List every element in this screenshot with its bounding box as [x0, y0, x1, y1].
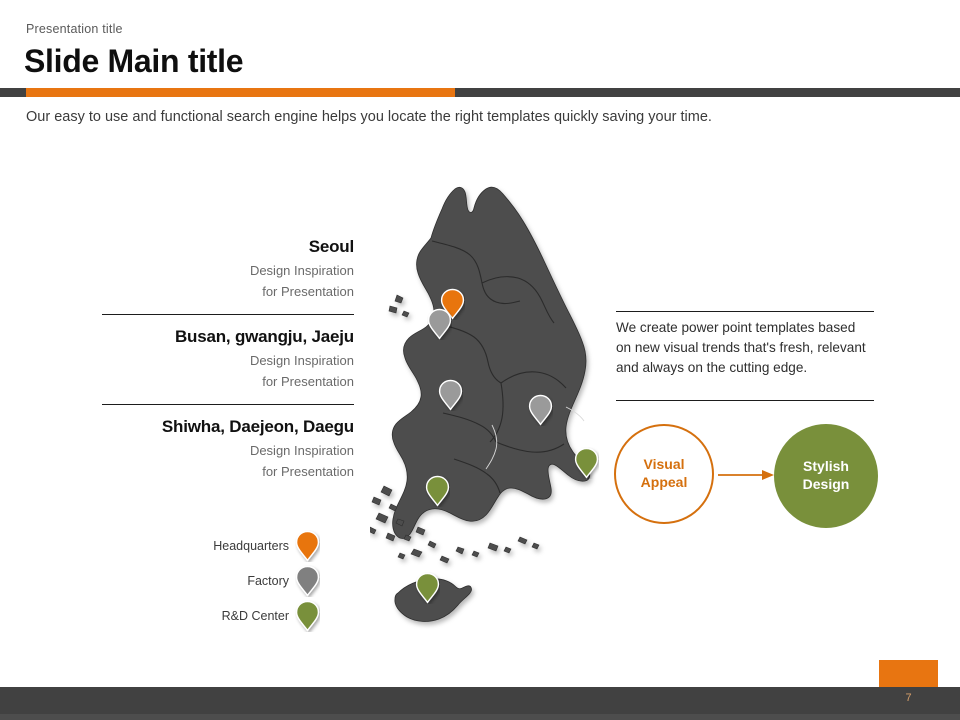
visual-appeal-circle[interactable]: Visual Appeal [614, 424, 714, 524]
visual-appeal-line2: Appeal [641, 474, 688, 490]
city-entry-seoul: Seoul Design Inspiration for Presentatio… [100, 236, 354, 302]
lead-paragraph: Our easy to use and functional search en… [26, 107, 796, 129]
presentation-eyebrow: Presentation title [26, 22, 123, 36]
arrow-right-icon [718, 468, 774, 480]
map-pin-icon [295, 565, 320, 597]
note-block: We create power point templates based on… [616, 318, 874, 378]
legend-label: Factory [247, 574, 295, 588]
city-desc-line1: Design Inspiration [100, 259, 354, 280]
mainland-path [392, 187, 589, 538]
city-separator [102, 404, 354, 405]
city-separator [102, 314, 354, 315]
stylish-design-line2: Design [803, 476, 850, 492]
city-desc-line2: for Presentation [100, 280, 354, 301]
stylish-design-circle[interactable]: Stylish Design [774, 424, 878, 528]
map-pin-icon [295, 530, 320, 562]
note-text: We create power point templates based on… [616, 318, 874, 378]
slide-canvas: Presentation title Slide Main title Our … [0, 0, 960, 720]
city-entry-busan: Busan, gwangju, Jaeju Design Inspiration… [100, 326, 354, 392]
rd-marker-southeast[interactable] [574, 447, 599, 479]
rd-marker-southwest[interactable] [425, 475, 450, 507]
header-rule-accent [26, 88, 455, 97]
factory-marker-west[interactable] [438, 379, 463, 411]
note-rule-bottom [616, 400, 874, 401]
city-name: Busan, gwangju, Jaeju [100, 326, 354, 349]
legend-item-factory: Factory [180, 563, 320, 598]
stylish-design-label: Stylish Design [803, 458, 850, 494]
factory-marker-east[interactable] [528, 394, 553, 426]
city-desc-line1: Design Inspiration [100, 349, 354, 370]
city-desc-line2: for Presentation [100, 460, 354, 481]
note-rule-top [616, 311, 874, 312]
visual-appeal-line1: Visual [644, 456, 685, 472]
city-list: Seoul Design Inspiration for Presentatio… [100, 236, 354, 482]
page-number: 7 [879, 692, 938, 704]
legend-label: Headquarters [213, 539, 295, 553]
rd-marker-jeju[interactable] [415, 572, 440, 604]
city-name: Seoul [100, 236, 354, 259]
city-entry-shiwha: Shiwha, Daejeon, Daegu Design Inspiratio… [100, 416, 354, 482]
visual-appeal-label: Visual Appeal [641, 456, 688, 492]
factory-marker-north[interactable] [427, 308, 452, 340]
map-landmass [370, 187, 590, 621]
legend-item-rd-center: R&D Center [180, 598, 320, 633]
legend-item-headquarters: Headquarters [180, 528, 320, 563]
map-svg [370, 175, 620, 635]
map-pin-icon [295, 600, 320, 632]
footer-strip [0, 714, 960, 720]
city-desc-line2: for Presentation [100, 370, 354, 391]
city-name: Shiwha, Daejeon, Daegu [100, 416, 354, 439]
map-legend: Headquarters Factory [180, 528, 320, 633]
city-desc-line1: Design Inspiration [100, 439, 354, 460]
stylish-design-line1: Stylish [803, 458, 849, 474]
south-korea-map[interactable] [370, 175, 620, 635]
legend-label: R&D Center [222, 609, 295, 623]
page-title: Slide Main title [24, 44, 243, 79]
process-diagram: Visual Appeal Stylish Design [614, 424, 892, 528]
